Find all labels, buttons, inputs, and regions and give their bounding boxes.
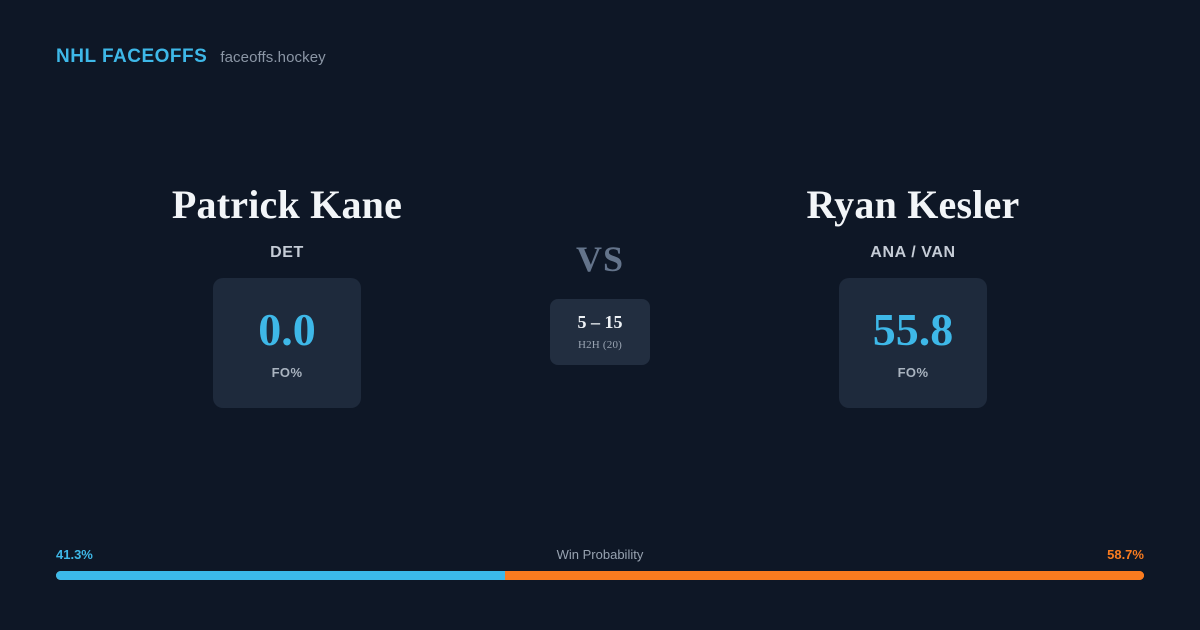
win-probability-left-value: 41.3% — [56, 547, 93, 562]
win-probability-bar-right — [505, 571, 1144, 580]
site-name: faceoffs.hockey — [220, 49, 325, 66]
stat-value-left: 0.0 — [258, 307, 316, 353]
brand-title: NHL FACEOFFS — [56, 46, 207, 68]
stat-box-left: 0.0 FO% — [213, 278, 361, 408]
header: NHL FACEOFFS faceoffs.hockey — [56, 46, 326, 68]
matchup-section: Patrick Kane DET 0.0 FO% VS 5 – 15 H2H (… — [0, 185, 1200, 435]
og-card: NHL FACEOFFS faceoffs.hockey Patrick Kan… — [0, 0, 1200, 630]
player-team-right: ANA / VAN — [870, 244, 955, 262]
stat-box-right: 55.8 FO% — [839, 278, 987, 408]
stat-value-right: 55.8 — [873, 307, 954, 353]
player-card-left: Patrick Kane DET 0.0 FO% — [57, 185, 517, 408]
h2h-score: 5 – 15 — [578, 313, 623, 331]
player-card-right: Ryan Kesler ANA / VAN 55.8 FO% — [683, 185, 1143, 408]
win-probability-right-value: 58.7% — [1107, 547, 1144, 562]
player-name-right: Ryan Kesler — [807, 185, 1020, 225]
win-probability-bar-left — [56, 571, 505, 580]
center-column: VS 5 – 15 H2H (20) — [500, 185, 700, 365]
win-probability-labels: 41.3% Win Probability 58.7% — [56, 547, 1144, 562]
h2h-box: 5 – 15 H2H (20) — [550, 299, 650, 365]
stat-label-right: FO% — [898, 365, 929, 380]
player-name-left: Patrick Kane — [172, 185, 402, 225]
h2h-caption: H2H (20) — [578, 339, 622, 351]
vs-label: VS — [576, 241, 624, 277]
win-probability-title: Win Probability — [557, 547, 644, 562]
stat-label-left: FO% — [272, 365, 303, 380]
player-team-left: DET — [270, 244, 304, 262]
win-probability-section: 41.3% Win Probability 58.7% — [56, 547, 1144, 580]
win-probability-bar — [56, 571, 1144, 580]
